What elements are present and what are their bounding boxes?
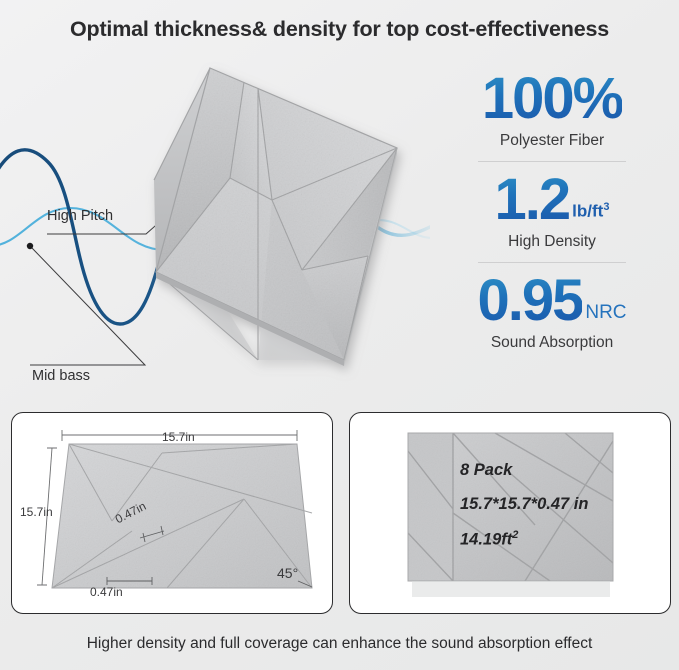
stat-value-row: 100 % bbox=[482, 70, 622, 128]
stat-caption: High Density bbox=[508, 233, 596, 251]
pack-info-card: 8 Pack 15.7*15.7*0.47 in 14.19ft2 bbox=[349, 412, 671, 614]
panel-stack-shape bbox=[408, 433, 613, 597]
height-dimension-label: 15.7in bbox=[20, 505, 53, 519]
stat-caption: Sound Absorption bbox=[491, 334, 613, 352]
stat-caption: Polyester Fiber bbox=[500, 132, 604, 150]
stat-value: 0.95 bbox=[477, 272, 582, 330]
infographic-page: Optimal thickness& density for top cost-… bbox=[0, 0, 679, 670]
width-dimension-label: 15.7in bbox=[162, 430, 195, 444]
stat-divider bbox=[478, 262, 626, 263]
mid-bass-label: Mid bass bbox=[32, 368, 90, 384]
stat-divider bbox=[478, 161, 626, 162]
high-pitch-label: High Pitch bbox=[47, 208, 113, 224]
acoustic-panel-svg bbox=[132, 60, 428, 400]
pack-quantity-label: 8 Pack bbox=[460, 461, 512, 480]
stat-value-row: 0.95 NRC bbox=[477, 272, 626, 330]
pack-coverage-label: 14.19ft2 bbox=[460, 529, 518, 550]
acoustic-panel-product-image bbox=[132, 60, 428, 400]
stat-sound-absorption: 0.95 NRC Sound Absorption bbox=[432, 272, 672, 352]
stat-unit-percent: % bbox=[573, 70, 623, 128]
stat-unit-superscript: 3 bbox=[603, 201, 609, 213]
pack-coverage-value: 14.19ft bbox=[460, 531, 512, 549]
stat-high-density: 1.2 lb/ft3 High Density bbox=[432, 171, 672, 251]
footer-bar: Higher density and full coverage can enh… bbox=[0, 618, 679, 670]
pack-coverage-superscript: 2 bbox=[512, 529, 518, 541]
pack-info-card-inner: 8 Pack 15.7*15.7*0.47 in 14.19ft2 bbox=[350, 413, 670, 613]
dimensions-card-inner: 15.7in 15.7in 0.47in 0.47in 45° bbox=[12, 413, 332, 613]
angle-label: 45° bbox=[277, 565, 298, 581]
footer-caption: Higher density and full coverage can enh… bbox=[87, 635, 593, 653]
stat-unit: lb/ft3 bbox=[572, 202, 609, 220]
stat-value: 100 bbox=[482, 70, 573, 128]
dimensions-card: 15.7in 15.7in 0.47in 0.47in 45° bbox=[11, 412, 333, 614]
title-bar: Optimal thickness& density for top cost-… bbox=[0, 0, 679, 58]
thickness-dimension-label-bottom: 0.47in bbox=[90, 585, 123, 599]
stat-value: 1.2 bbox=[495, 171, 570, 229]
stat-polyester-fiber: 100 % Polyester Fiber bbox=[432, 70, 672, 150]
pack-dimensions-label: 15.7*15.7*0.47 in bbox=[460, 495, 588, 514]
stat-value-row: 1.2 lb/ft3 bbox=[495, 171, 610, 229]
panel-perspective-shape bbox=[52, 444, 312, 588]
hero-section: High Pitch Mid bass bbox=[0, 58, 679, 406]
page-title: Optimal thickness& density for top cost-… bbox=[70, 17, 609, 42]
stat-unit: NRC bbox=[585, 303, 626, 322]
mid-bass-leader bbox=[27, 243, 145, 365]
stat-unit-text: lb/ft bbox=[572, 202, 603, 221]
stats-column: 100 % Polyester Fiber 1.2 lb/ft3 High De… bbox=[432, 70, 672, 352]
